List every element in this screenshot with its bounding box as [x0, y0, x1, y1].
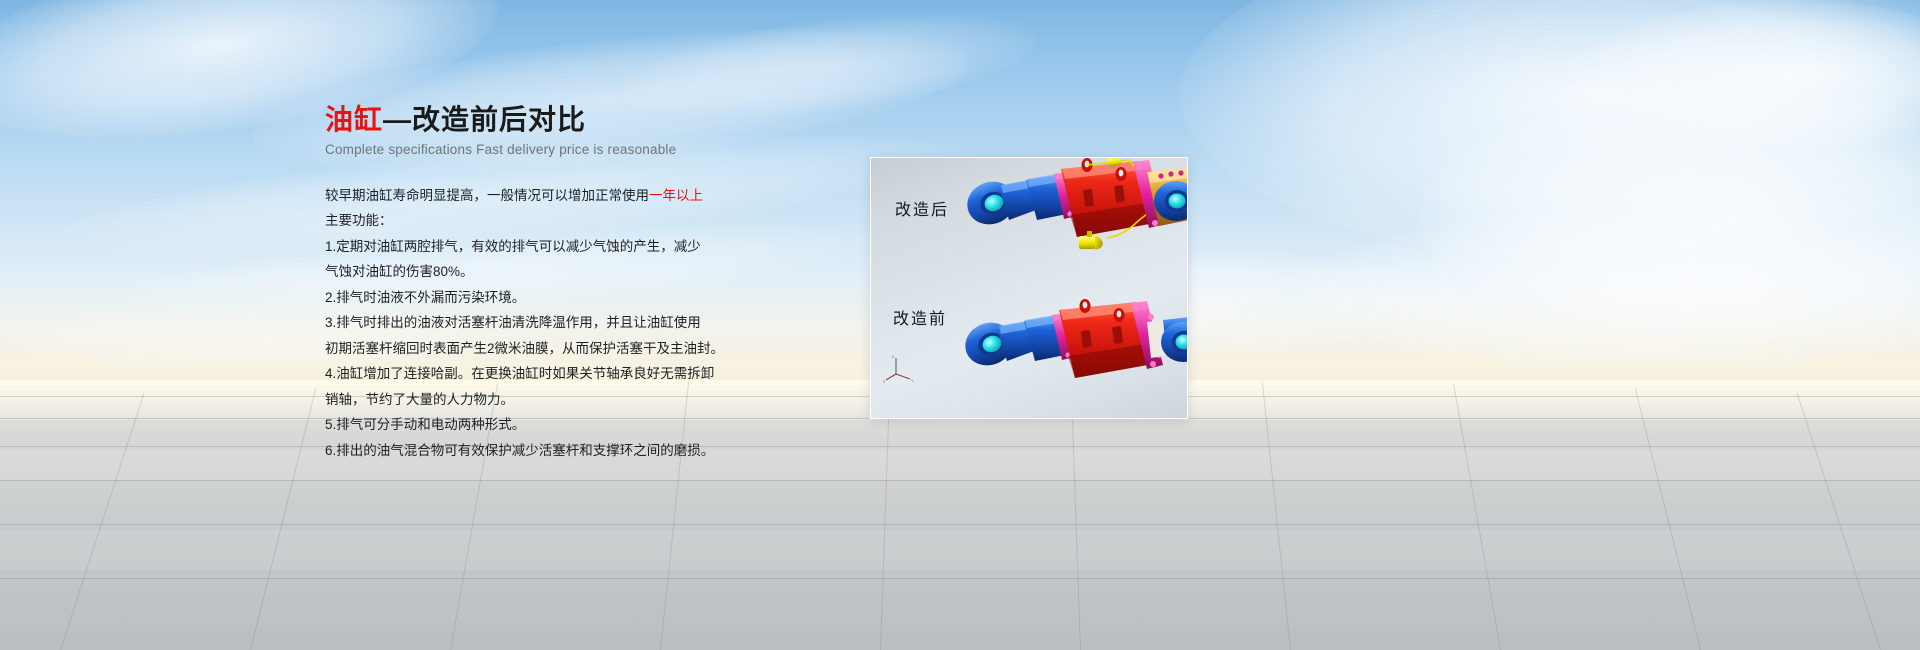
paving-line-h	[0, 480, 1920, 481]
svg-text:X: X	[883, 380, 886, 384]
label-after-modification: 改造后	[895, 196, 949, 220]
product-comparison-card: Z X Y 改造后 改造前	[870, 157, 1188, 419]
paving-band	[0, 530, 1920, 570]
description-line-8: 4.油缸增加了连接哈副。在更换油缸时如果关节轴承良好无需拆卸	[325, 361, 885, 387]
page-title-rest: —改造前后对比	[383, 104, 586, 135]
description-line-3: 1.定期对油缸两腔排气，有效的排气可以减少气蚀的产生，减少	[325, 234, 885, 260]
paving-line-v	[60, 393, 144, 650]
description-line-1-emphasis: 一年以上	[649, 188, 703, 203]
paving-line-v	[1797, 393, 1881, 650]
banner-text-column: 油缸—改造前后对比 Complete specifications Fast d…	[325, 105, 885, 463]
paving-line-v	[1262, 381, 1291, 650]
cylinder-before	[959, 299, 1188, 378]
paving-line-h	[0, 524, 1920, 525]
svg-text:Y: Y	[911, 379, 914, 383]
description-line-1-text: 较早期油缸寿命明显提高，一般情况可以增加正常使用	[325, 188, 649, 203]
description-line-9: 销轴，节约了大量的人力物力。	[325, 387, 885, 413]
cad-axis-triad-icon: Z X Y	[883, 354, 917, 384]
page-subtitle: Complete specifications Fast delivery pr…	[325, 142, 885, 157]
description-line-1: 较早期油缸寿命明显提高，一般情况可以增加正常使用一年以上	[325, 183, 885, 209]
page-title: 油缸—改造前后对比	[325, 105, 885, 136]
description-line-10: 5.排气可分手动和电动两种形式。	[325, 412, 885, 438]
description-line-2: 主要功能：	[325, 208, 885, 234]
hero-banner: 油缸—改造前后对比 Complete specifications Fast d…	[0, 0, 1920, 650]
paving-line-v	[1071, 380, 1081, 650]
feature-description: 较早期油缸寿命明显提高，一般情况可以增加正常使用一年以上 主要功能： 1.定期对…	[325, 183, 885, 464]
description-line-5: 2.排气时油液不外漏而污染环境。	[325, 285, 885, 311]
paving-line-v	[250, 388, 316, 650]
paving-line-v	[1635, 388, 1701, 650]
label-before-modification: 改造前	[893, 305, 947, 329]
svg-text:Z: Z	[892, 355, 894, 359]
page-title-highlight: 油缸	[325, 104, 383, 135]
description-line-11: 6.排出的油气混合物可有效保护减少活塞杆和支撑环之间的磨损。	[325, 438, 885, 464]
description-line-4: 气蚀对油缸的伤害80%。	[325, 259, 885, 285]
paving-line-h	[0, 578, 1920, 579]
paving-line-h	[0, 446, 1920, 447]
ground-plaza	[0, 380, 1920, 650]
paving-line-v	[1453, 384, 1501, 650]
cylinder-after	[961, 158, 1188, 252]
paving-band	[0, 450, 1920, 480]
description-line-7: 初期活塞杆缩回时表面产生2微米油膜，从而保护活塞干及主油封。	[325, 336, 885, 362]
description-line-6: 3.排气时排出的油液对活塞杆油清洗降温作用，并且让油缸使用	[325, 310, 885, 336]
